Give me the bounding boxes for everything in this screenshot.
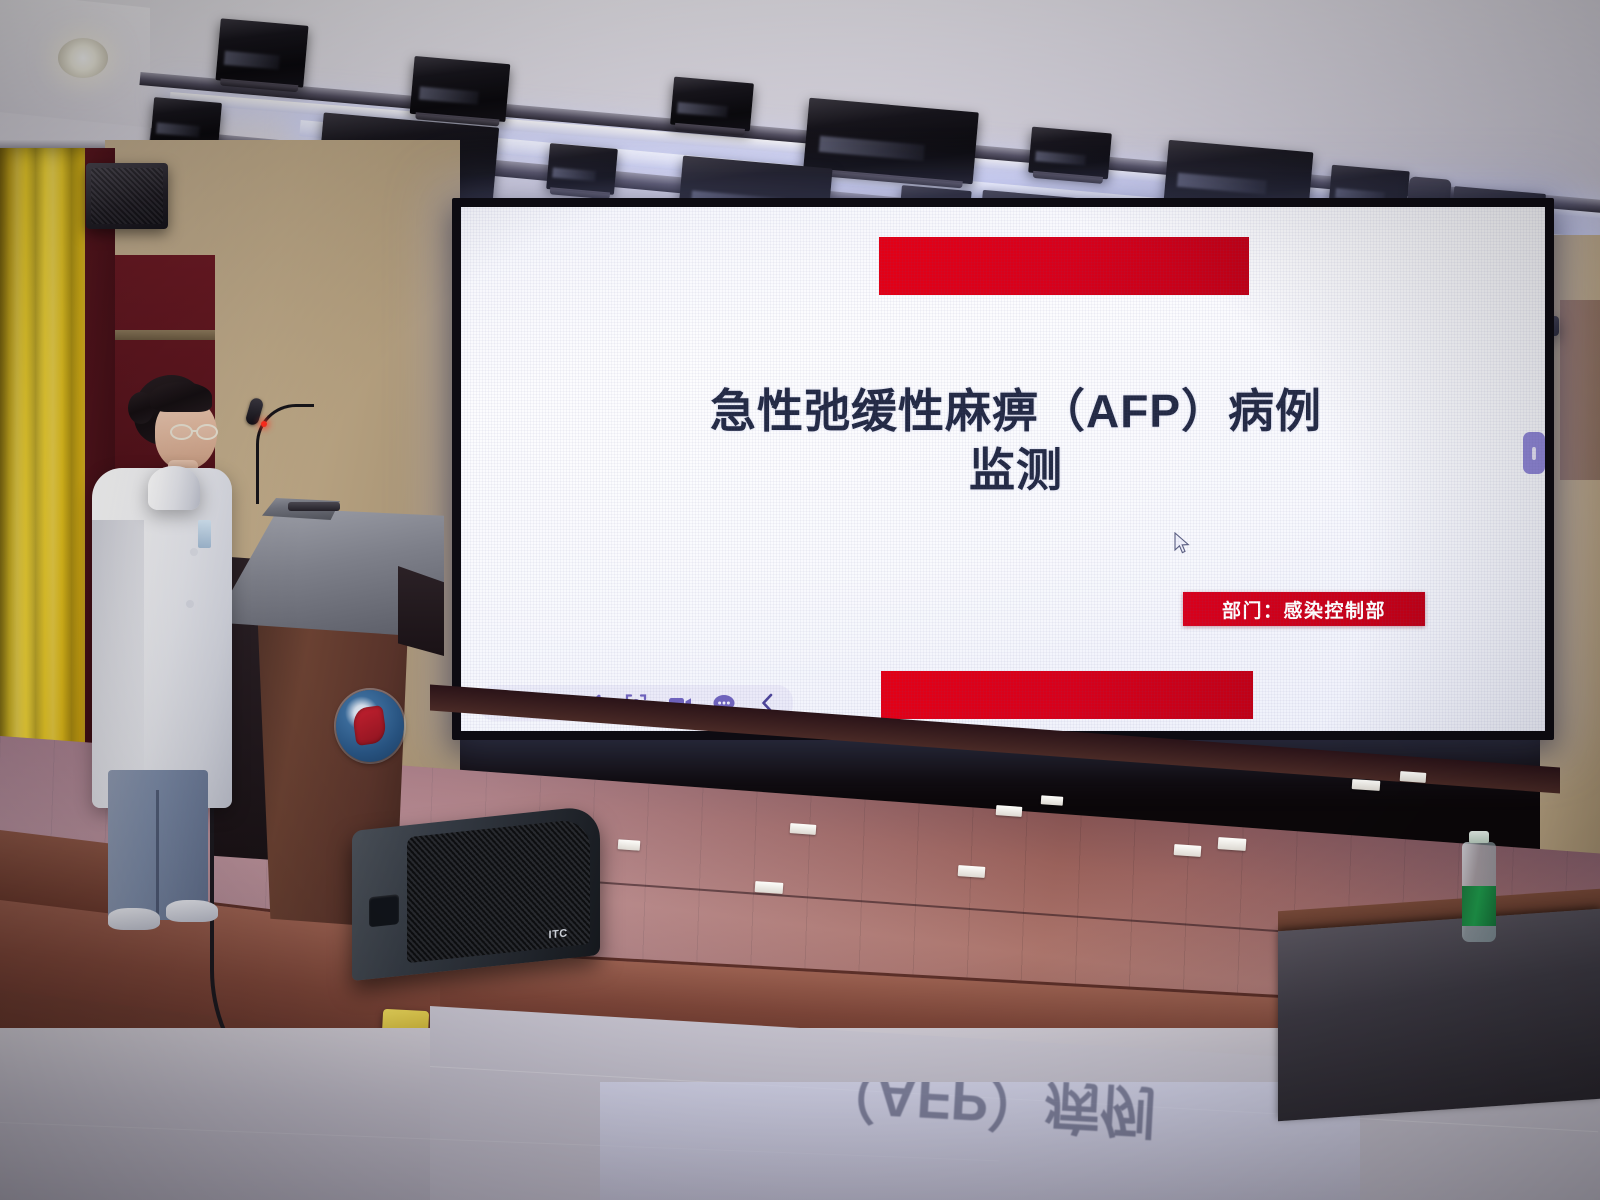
stage-light-fixture [215,18,308,87]
presenter-shoe-right [166,900,218,922]
front-table [1278,909,1600,1122]
speaker-grille [91,168,163,224]
wall-speaker [86,163,168,229]
presenter-glasses-bridge [192,430,198,432]
wall-dark-right [1560,300,1600,480]
presentation-slide[interactable]: 急性弛缓性麻痹（AFP）病例 监测 部门：感染控制部 [461,207,1545,731]
sidebar-toggle-tab[interactable] [1523,432,1545,474]
institution-crest [336,690,404,762]
stage-light-fixture [670,77,754,132]
presenter-coat-collar [148,466,200,510]
floor-paper [618,839,641,851]
floor-paper [1041,795,1064,806]
presenter-coat-button-2 [186,600,194,608]
sidebar-toggle-bar [1532,447,1536,460]
presenter-coat-button-1 [190,548,198,556]
presenter-glasses-left [170,424,193,440]
crest-mark [352,705,388,746]
floor-paper [1174,844,1202,857]
presenter-shoe-left [108,908,160,930]
ceiling-downlight [58,38,108,78]
floor-paper [1352,779,1381,791]
presenter-glasses-right [196,424,218,440]
water-bottle [1462,842,1496,942]
presenter-fringe [150,382,212,412]
floor-paper [790,823,817,835]
presenter-coat-shading [92,520,144,808]
floor-paper [1218,837,1247,851]
slide-accent-block-bottom [881,671,1253,719]
slide-floor-reflection: （AFP）病例 [600,1082,1360,1200]
slide-title-line1: 急性弛缓性麻痹（AFP）病例 [591,382,1441,441]
slide-accent-block-top [879,237,1249,295]
stage-light-fixture [546,143,618,195]
presenter-trouser-split [156,790,159,918]
department-badge: 部门：感染控制部 [1183,592,1425,626]
presentation-room-scene: 急性弛缓性麻痹（AFP）病例 监测 部门：感染控制部 [0,0,1600,1200]
floor-paper [1400,771,1427,783]
stage-riser-left [0,830,120,915]
bottle-cap [1469,831,1488,843]
floor-paper [958,865,986,878]
microphone-base [288,502,340,511]
floor-paper [996,805,1023,817]
slide-title-line2: 监测 [591,441,1441,500]
stage-light-fixture [410,56,511,122]
presenter-badge [198,520,211,548]
led-display-wall: 急性弛缓性麻痹（AFP）病例 监测 部门：感染控制部 [452,198,1554,740]
slide-title: 急性弛缓性麻痹（AFP）病例 监测 [591,382,1441,500]
wedge-stage-monitor: ITC [352,805,600,981]
monitor-grille [407,818,591,963]
monitor-handle [369,894,399,927]
stage-light-fixture [1028,127,1112,180]
monitor-brand-logo: ITC [549,927,568,941]
bottle-label [1462,886,1496,926]
mouse-cursor [1174,532,1192,556]
microphone-gooseneck [256,404,314,504]
microphone-led-indicator [261,421,267,427]
